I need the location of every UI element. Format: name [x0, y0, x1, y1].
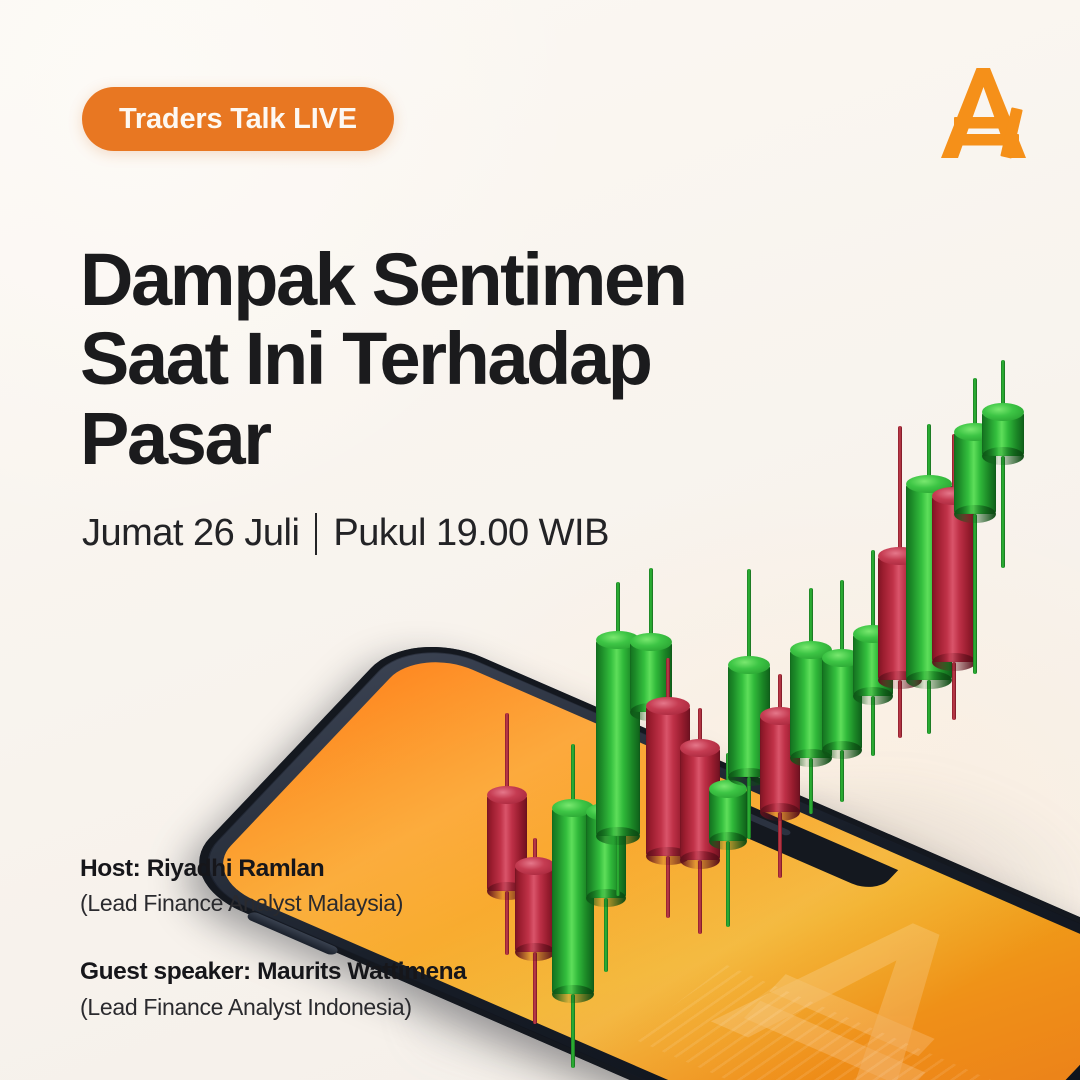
live-badge-label: Traders Talk LIVE — [119, 103, 357, 136]
datetime-separator — [315, 513, 317, 555]
event-time: Pukul 19.00 WIB — [333, 512, 609, 555]
headline-line-1: Dampak Sentimen — [80, 240, 800, 320]
speaker-credits: Host: Riyadhi Ramlan (Lead Finance Analy… — [80, 853, 550, 1022]
page-title: Dampak Sentimen Saat Ini Terhadap Pasar — [80, 240, 800, 480]
guest-name: Guest speaker: Maurits Wattimena — [80, 956, 550, 987]
guest-role: (Lead Finance Analyst Indonesia) — [80, 992, 550, 1022]
event-datetime: Jumat 26 Juli Pukul 19.00 WIB — [82, 512, 609, 555]
host-name: Host: Riyadhi Ramlan — [80, 853, 550, 884]
host-role: (Lead Finance Analyst Malaysia) — [80, 888, 550, 918]
stylized-a-logo-icon — [930, 62, 1034, 162]
live-badge[interactable]: Traders Talk LIVE — [82, 87, 394, 151]
credit-host: Host: Riyadhi Ramlan (Lead Finance Analy… — [80, 853, 550, 919]
headline-line-3: Pasar — [80, 399, 800, 479]
headline-line-2: Saat Ini Terhadap — [80, 319, 800, 399]
credit-guest: Guest speaker: Maurits Wattimena (Lead F… — [80, 956, 550, 1022]
promo-poster: Traders Talk LIVE Dampak Sentimen Saat I… — [0, 0, 1080, 1080]
event-date: Jumat 26 Juli — [82, 512, 299, 555]
